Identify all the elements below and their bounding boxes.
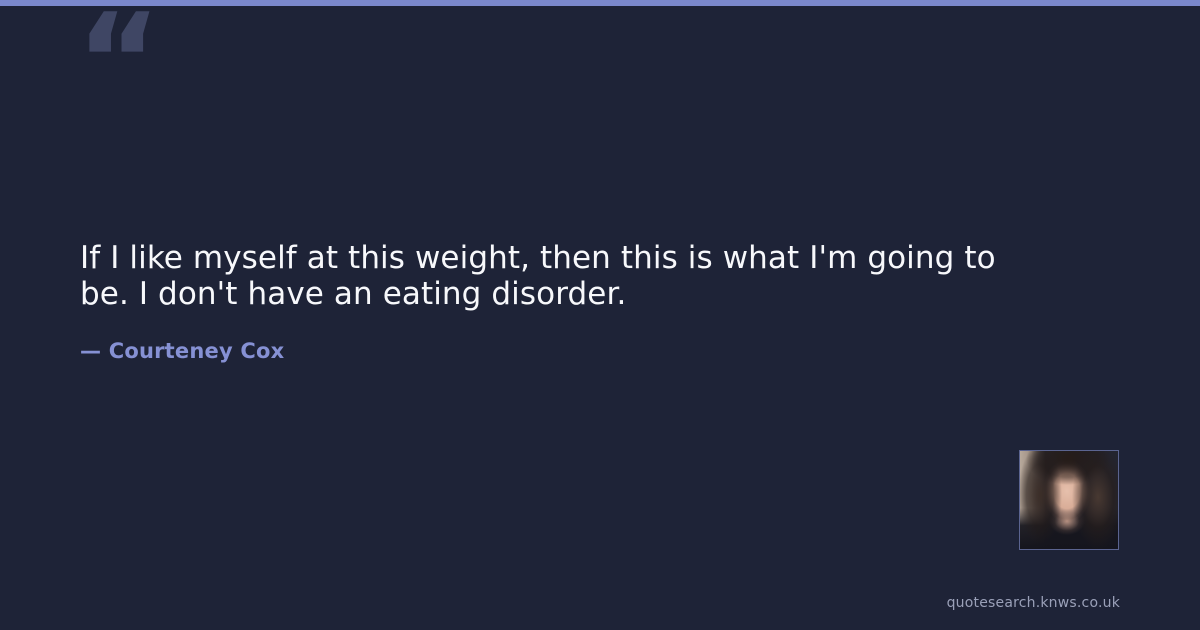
quote-block: If I like myself at this weight, then th… [80, 240, 1040, 364]
open-quote-icon: “ [76, 0, 159, 126]
quote-card: “ If I like myself at this weight, then … [0, 0, 1200, 630]
quote-attribution: — Courteney Cox [80, 338, 1040, 364]
quote-text: If I like myself at this weight, then th… [80, 240, 1040, 312]
quote-line-1: If I like myself at this weight, then th… [80, 240, 954, 276]
author-portrait-image [1020, 451, 1118, 549]
source-url: quotesearch.knws.co.uk [947, 594, 1120, 612]
author-name: Courteney Cox [109, 339, 285, 363]
top-accent-bar [0, 0, 1200, 6]
attribution-dash: — [80, 339, 101, 363]
author-portrait [1019, 450, 1119, 550]
